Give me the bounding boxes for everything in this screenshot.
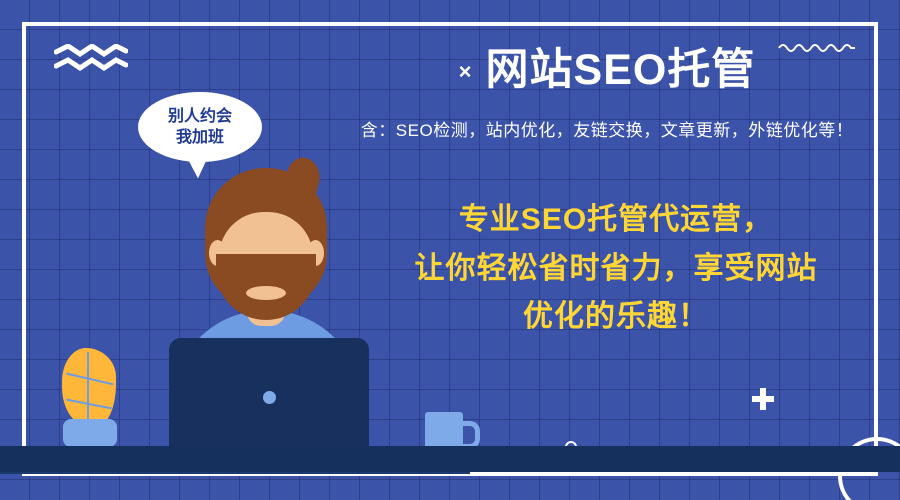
slogan-line-2: 让你轻松省时省力，享受网站 [360, 245, 872, 294]
title-prefix-mark: × [459, 61, 472, 83]
slogan-line-1: 专业SEO托管代运营， [360, 196, 872, 245]
slogan-line-3: 优化的乐趣！ [360, 293, 872, 342]
headline-block: × 网站SEO托管 含：SEO检测，站内优化，友链交换，文章更新，外链优化等！ [330, 42, 884, 141]
page-subtitle: 含：SEO检测，站内优化，友链交换，文章更新，外链优化等！ [330, 116, 884, 141]
plus-icon [752, 388, 774, 410]
seo-promo-banner: 别人约会 我加班 × 网站SEO托管 含：SEO检测，站内优化，友链交换，文章更… [0, 0, 900, 500]
laptop-logo-icon [263, 391, 276, 404]
plant-leaf [62, 348, 116, 426]
speech-bubble-line-1: 别人约会 [168, 106, 232, 127]
slogan-block: 专业SEO托管代运营， 让你轻松省时省力，享受网站 优化的乐趣！ [360, 196, 872, 342]
desk-surface [0, 446, 900, 472]
double-wave-icon [54, 44, 128, 74]
title-row: × 网站SEO托管 [330, 42, 884, 98]
plant-pot [63, 419, 117, 447]
page-title: 网站SEO托管 [486, 49, 756, 92]
person-mouth [246, 286, 286, 300]
speech-bubble-line-2: 我加班 [176, 127, 224, 148]
speech-bubble: 别人约会 我加班 [138, 92, 262, 162]
